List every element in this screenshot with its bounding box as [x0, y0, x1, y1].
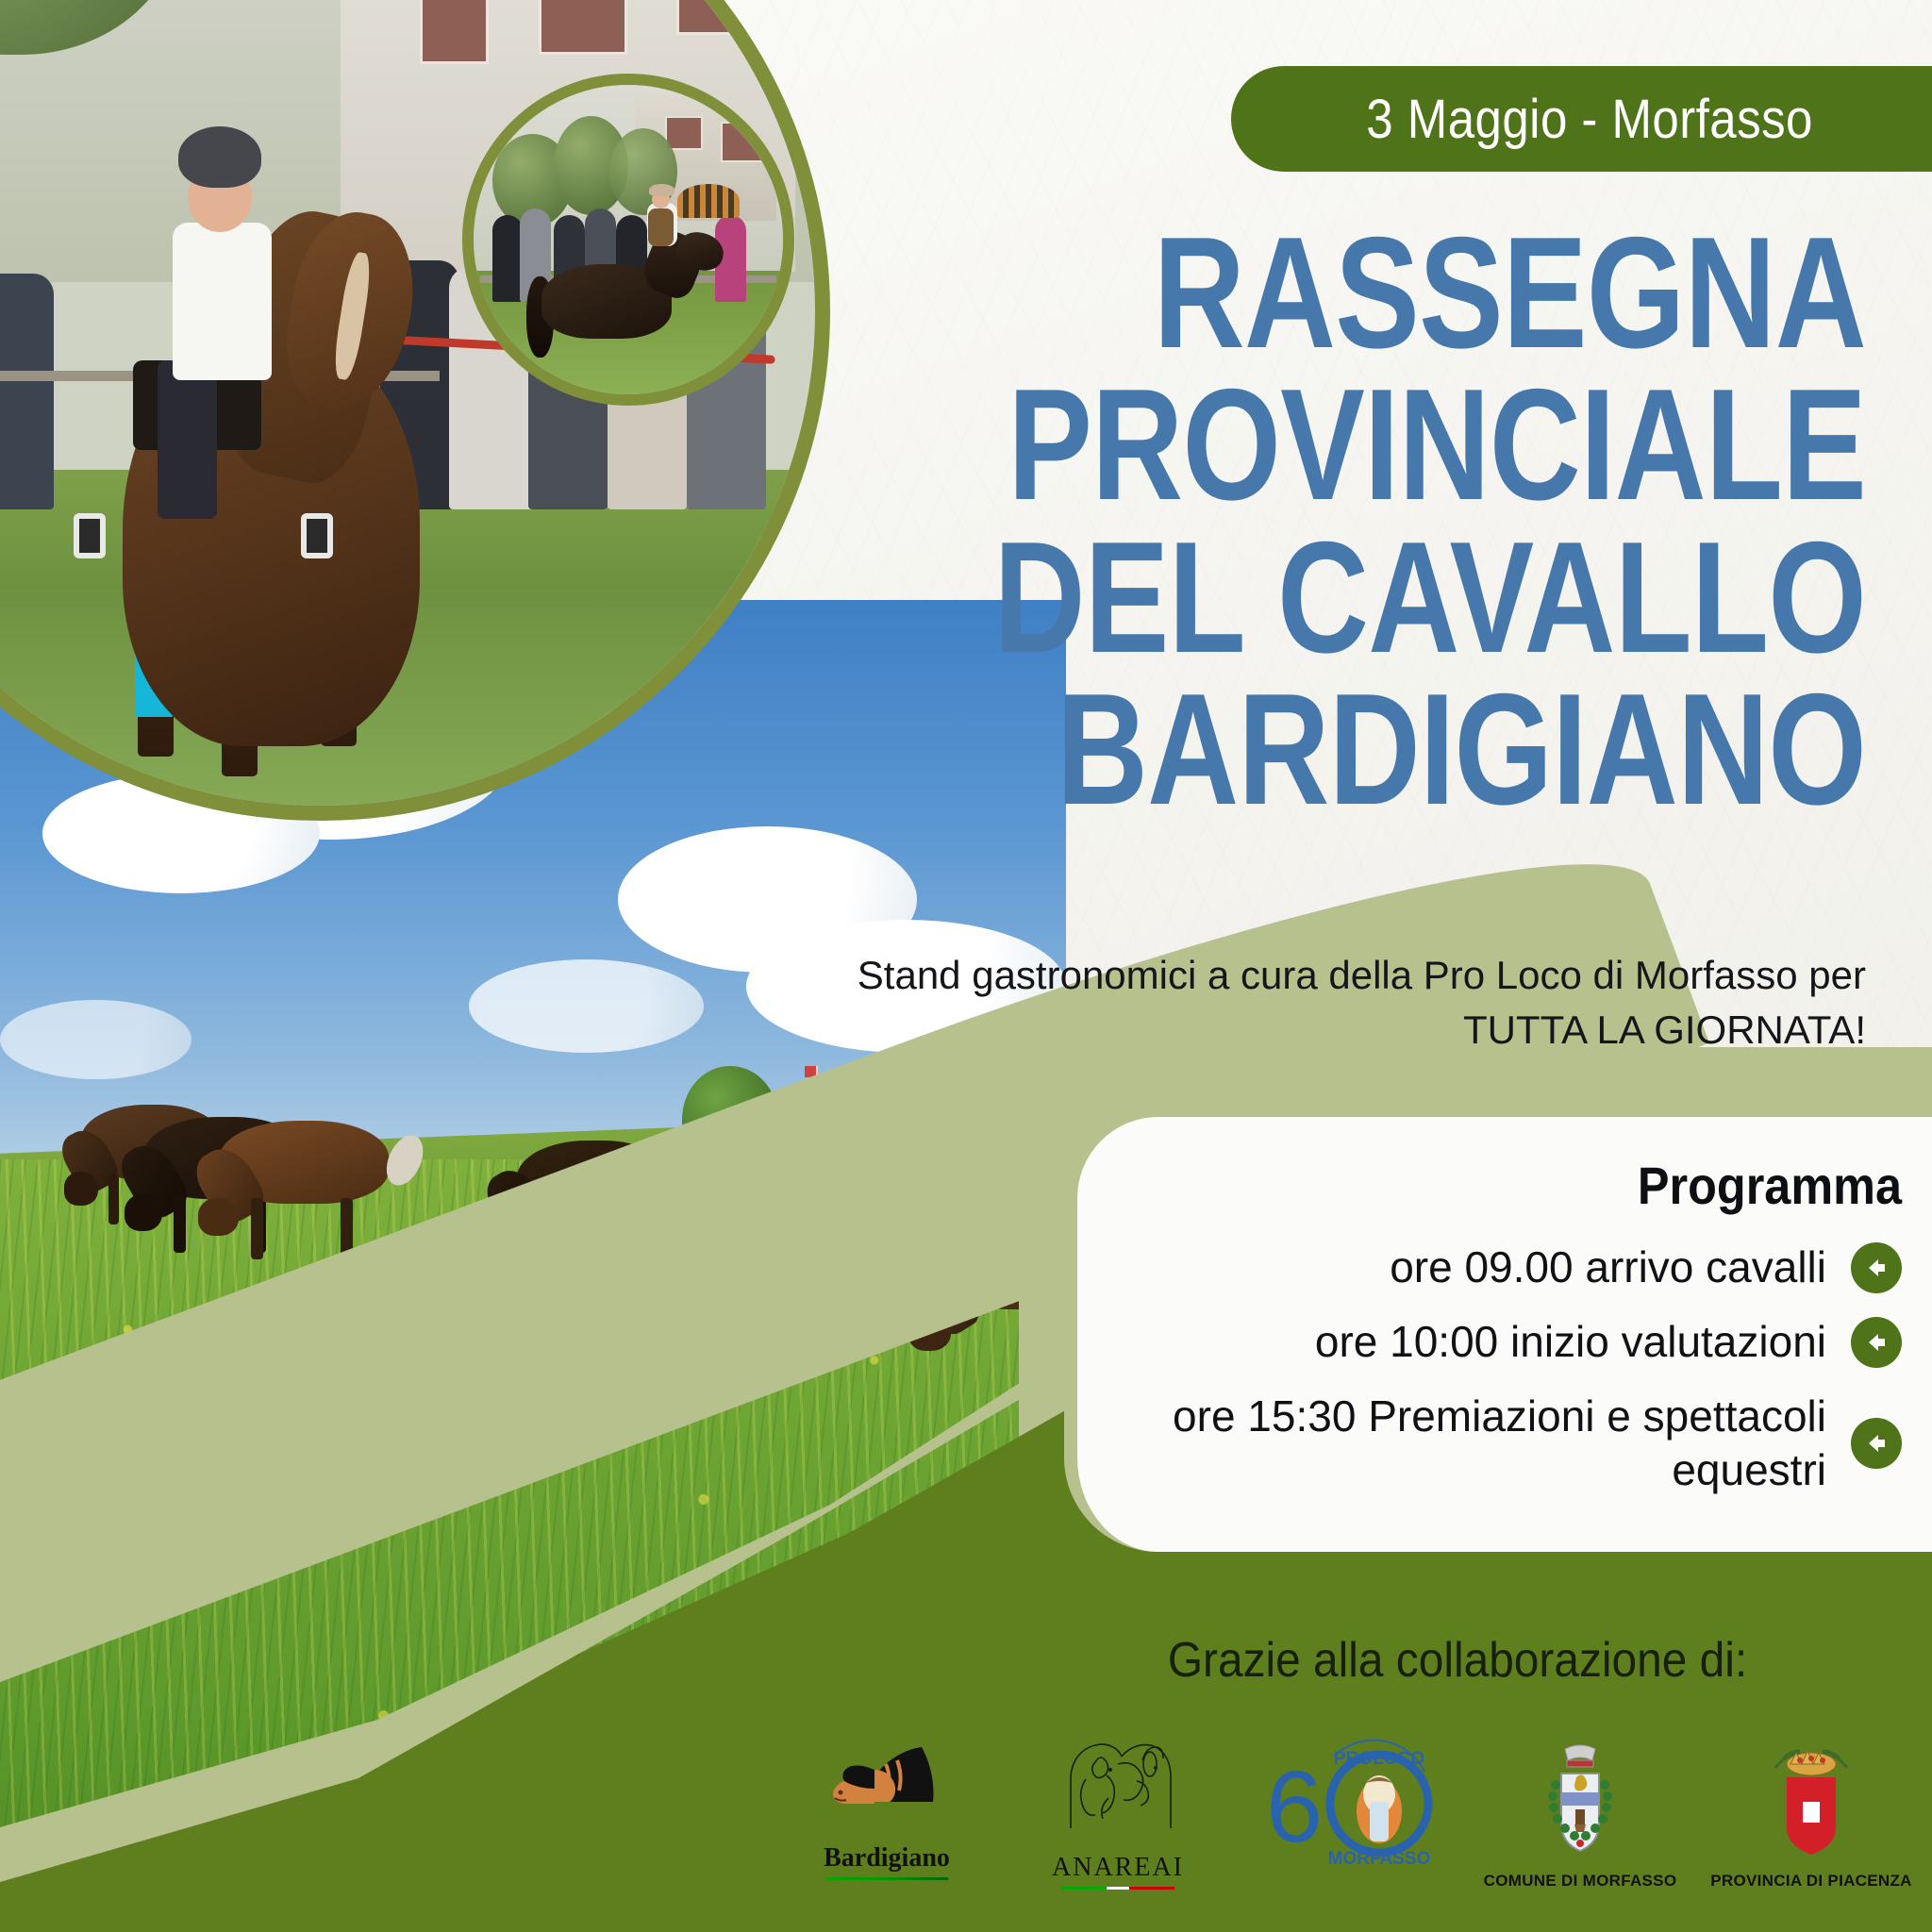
poster-canvas: 3 Maggio - Morfasso RASSEGNA PROVINCIALE… — [0, 0, 1932, 1932]
programme-item-2-label: ore 10:00 inizio valutazioni — [1315, 1315, 1826, 1369]
anareai-animals-icon — [1052, 1736, 1184, 1849]
programme-item-1-label: ore 09.00 arrivo cavalli — [1390, 1241, 1826, 1294]
programme-item-3-label: ore 15:30 Premiazioni e spettacoli eques… — [1166, 1390, 1826, 1497]
partner-logo-row: Bardigiano A — [792, 1736, 1906, 1924]
programme-item-3: ore 15:30 Premiazioni e spettacoli eques… — [1077, 1390, 1902, 1497]
logo-comune-morfasso: COMUNE DI MORFASSO — [1486, 1736, 1674, 1890]
logo-bardigiano: Bardigiano — [792, 1736, 981, 1880]
arrow-left-circle-icon — [1851, 1418, 1902, 1469]
date-banner: 3 Maggio - Morfasso — [1231, 66, 1932, 172]
proloco-morfasso-icon: 6 PROLOCO MORFASSO — [1264, 1736, 1434, 1868]
collaboration-heading: Grazie alla collaborazione di: — [1024, 1632, 1891, 1689]
svg-text:6: 6 — [1266, 1749, 1323, 1863]
comune-morfasso-crest-icon — [1524, 1736, 1637, 1868]
anareai-label: ANAREAI — [1052, 1853, 1184, 1883]
title-line-1: RASSEGNA — [892, 217, 1866, 369]
title-line-2: PROVINCIALE — [892, 369, 1866, 521]
provincia-piacenza-label: PROVINCIA DI PIACENZA — [1710, 1872, 1911, 1890]
provincia-piacenza-crest-icon — [1755, 1736, 1868, 1868]
proloco-bottom-label: MORFASSO — [1328, 1849, 1431, 1868]
arrow-left-circle-icon — [1851, 1317, 1902, 1368]
logo-provincia-piacenza: PROVINCIA DI PIACENZA — [1717, 1736, 1906, 1890]
programme-heading: Programma — [1159, 1155, 1902, 1216]
bardigiano-label: Bardigiano — [824, 1843, 950, 1874]
logo-anareai: ANAREAI — [1024, 1736, 1212, 1890]
programme-item-2: ore 10:00 inizio valutazioni — [1077, 1315, 1902, 1369]
title-line-4: BARDIGIANO — [892, 674, 1866, 825]
bardigiano-horse-icon — [816, 1736, 958, 1840]
comune-morfasso-label: COMUNE DI MORFASSO — [1484, 1872, 1677, 1890]
proloco-top-label: PROLOCO — [1334, 1749, 1424, 1769]
date-banner-label: 3 Maggio - Morfasso — [1366, 88, 1813, 151]
logo-proloco-morfasso: 6 PROLOCO MORFASSO — [1255, 1736, 1443, 1868]
subtitle-text: Stand gastronomici a cura della Pro Loco… — [791, 948, 1866, 1058]
programme-item-1: ore 09.00 arrivo cavalli — [1077, 1241, 1902, 1294]
page-title: RASSEGNA PROVINCIALE DEL CAVALLO BARDIGI… — [649, 217, 1866, 825]
arrow-left-circle-icon — [1851, 1242, 1902, 1293]
title-line-3: DEL CAVALLO — [892, 522, 1866, 674]
programme-card: Programma ore 09.00 arrivo cavalli ore 1… — [1064, 1104, 1932, 1552]
